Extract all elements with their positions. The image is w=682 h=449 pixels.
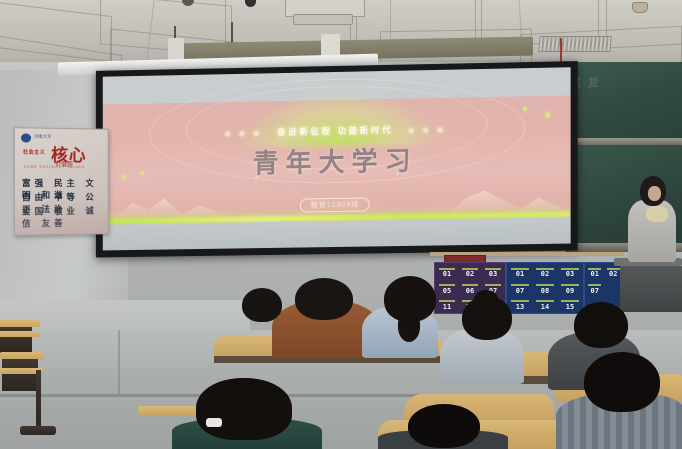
locker-slot[interactable]: 05 (436, 280, 458, 295)
podium (620, 266, 682, 312)
school-logo-icon (21, 133, 31, 142)
locker-slot[interactable]: 09 (558, 280, 582, 295)
poster-bottom-wash (15, 200, 108, 235)
student-head-right (574, 302, 628, 348)
socialist-core-values-poster: 河南大学 社会主义 核心 价值观 CORE SOCIALIST VALUES 富… (14, 127, 109, 236)
locker-slot[interactable]: 01 (586, 264, 604, 279)
student-head-bottom-center (408, 404, 480, 448)
butterfly-icon-right-1: ❦ (522, 105, 528, 113)
floor-seam (118, 330, 120, 394)
locker-slot[interactable]: 03 (558, 264, 582, 279)
presenter-face (648, 186, 661, 201)
locker-slot[interactable]: 02 (459, 264, 481, 279)
poster-small-title: 社会主义 (23, 149, 45, 156)
locker-slot[interactable]: 15 (558, 297, 582, 312)
butterfly-icon-left-2: ❦ (140, 170, 145, 177)
empty-desk-top-3 (0, 352, 44, 359)
locker-slot[interactable]: 11 (436, 297, 458, 312)
locker-slot[interactable]: 03 (482, 264, 504, 279)
locker-slot[interactable]: 07 (508, 280, 532, 295)
slide-dots-left: ◆ ◆ ◆ (225, 128, 263, 138)
locker-slot[interactable]: 14 (533, 297, 557, 312)
poster-english-subtitle: CORE SOCIALIST VALUES (24, 165, 85, 169)
air-conditioning-vent (538, 36, 612, 52)
student-head-brown (295, 278, 353, 320)
projection-screen: ◆ ◆ ◆ 奋进新征程 功建新时代 ◆ ◆ ◆ 青年大学习 教育12304班 ❦… (96, 61, 578, 257)
locker-slot[interactable]: 07 (586, 280, 604, 295)
slide-main-title: 青年大学习 (103, 138, 571, 183)
ceiling-projector (293, 14, 353, 25)
slide-dots-right: ◆ ◆ ◆ (408, 124, 446, 134)
projection-screen-surface: ◆ ◆ ◆ 奋进新征程 功建新时代 ◆ ◆ ◆ 青年大学习 教育12304班 ❦… (103, 67, 571, 250)
butterfly-icon-left-1: ❦ (121, 174, 127, 182)
empty-desk-leg-2 (2, 359, 38, 391)
locker-block-blue[interactable]: 01 02 03 07 08 09 13 14 15 (506, 262, 584, 314)
student-hair-bun (474, 290, 498, 308)
fire-sprinkler-icon (632, 2, 648, 13)
locker-slot[interactable]: 13 (508, 297, 532, 312)
student-head-far-left (242, 288, 282, 322)
presenter-scarf (646, 206, 668, 222)
desk-surface-bottom-left (138, 406, 200, 415)
hair-clip-icon (206, 418, 222, 427)
student-head-bottom-right (584, 352, 660, 412)
empty-desk-top-2 (0, 331, 40, 337)
chalkboard-rail (566, 138, 682, 145)
chalkboard-upper-panel: 试 复 (566, 62, 682, 138)
butterfly-icon-right-2: ❦ (544, 110, 552, 121)
locker-slot[interactable]: 02 (533, 264, 557, 279)
desk-post-left (36, 370, 41, 428)
locker-slot[interactable]: 01 (436, 264, 458, 279)
slide-sparkle-2 (396, 172, 398, 174)
student-ponytail (398, 312, 420, 342)
classroom-photo: 试 复 ◆ ◆ ◆ 奋进新征程 功建新时代 ◆ ◆ ◆ 青年大学习 教育1230… (0, 0, 682, 449)
student-head-bottom-left (196, 378, 292, 440)
desk-foot-left (20, 426, 56, 435)
presentation-slide: ◆ ◆ ◆ 奋进新征程 功建新时代 ◆ ◆ ◆ 青年大学习 教育12304班 ❦… (103, 67, 571, 250)
empty-desk-top (0, 320, 40, 327)
slide-headline-text: 奋进新征程 功建新时代 (277, 124, 393, 136)
locker-slot[interactable]: 08 (533, 280, 557, 295)
locker-slot[interactable]: 01 (508, 264, 532, 279)
poster-school-name: 河南大学 (34, 134, 52, 140)
